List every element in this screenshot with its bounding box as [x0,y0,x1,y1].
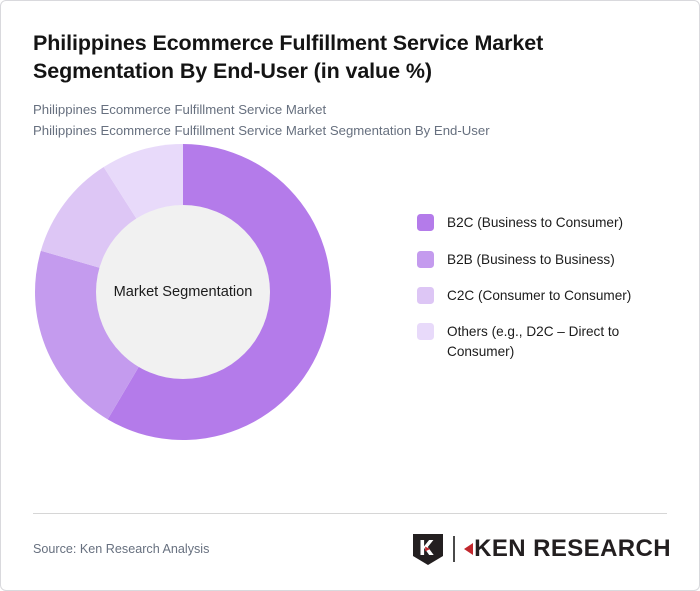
legend-label: Others (e.g., D2C – Direct to Consumer) [447,322,672,361]
legend-label: C2C (Consumer to Consumer) [447,286,631,305]
logo-wordmark: KEN RESEARCH [464,537,671,561]
chart-legend: B2C (Business to Consumer)B2B (Business … [417,213,672,360]
legend-item[interactable]: B2C (Business to Consumer) [417,213,672,232]
donut-hole [96,205,270,379]
chart-subtitle: Philippines Ecommerce Fulfillment Servic… [33,100,667,142]
legend-swatch-icon [417,287,434,304]
legend-item[interactable]: C2C (Consumer to Consumer) [417,286,672,305]
chart-footer: Source: Ken Research Analysis KEN RESEAR… [33,528,671,570]
subtitle-line-2: Philippines Ecommerce Fulfillment Servic… [33,121,667,142]
ken-logo-mark-icon [411,532,445,566]
legend-label: B2B (Business to Business) [447,250,615,269]
page-title: Philippines Ecommerce Fulfillment Servic… [33,29,643,86]
legend-swatch-icon [417,214,434,231]
legend-swatch-icon [417,323,434,340]
logo-separator [453,536,455,562]
chart-header: Philippines Ecommerce Fulfillment Servic… [1,1,699,141]
logo-text: KEN RESEARCH [474,537,671,561]
logo-caret-icon [464,543,473,555]
chart-card: Philippines Ecommerce Fulfillment Servic… [0,0,700,591]
donut-svg [33,142,333,442]
source-text: Source: Ken Research Analysis [33,542,209,556]
legend-item[interactable]: B2B (Business to Business) [417,250,672,269]
donut-chart: Market Segmentation [33,142,333,442]
ken-research-logo: KEN RESEARCH [411,532,671,566]
legend-item[interactable]: Others (e.g., D2C – Direct to Consumer) [417,322,672,361]
footer-divider [33,513,667,514]
legend-swatch-icon [417,251,434,268]
legend-label: B2C (Business to Consumer) [447,213,623,232]
subtitle-line-1: Philippines Ecommerce Fulfillment Servic… [33,100,667,121]
chart-body: Market Segmentation B2C (Business to Con… [1,141,699,471]
